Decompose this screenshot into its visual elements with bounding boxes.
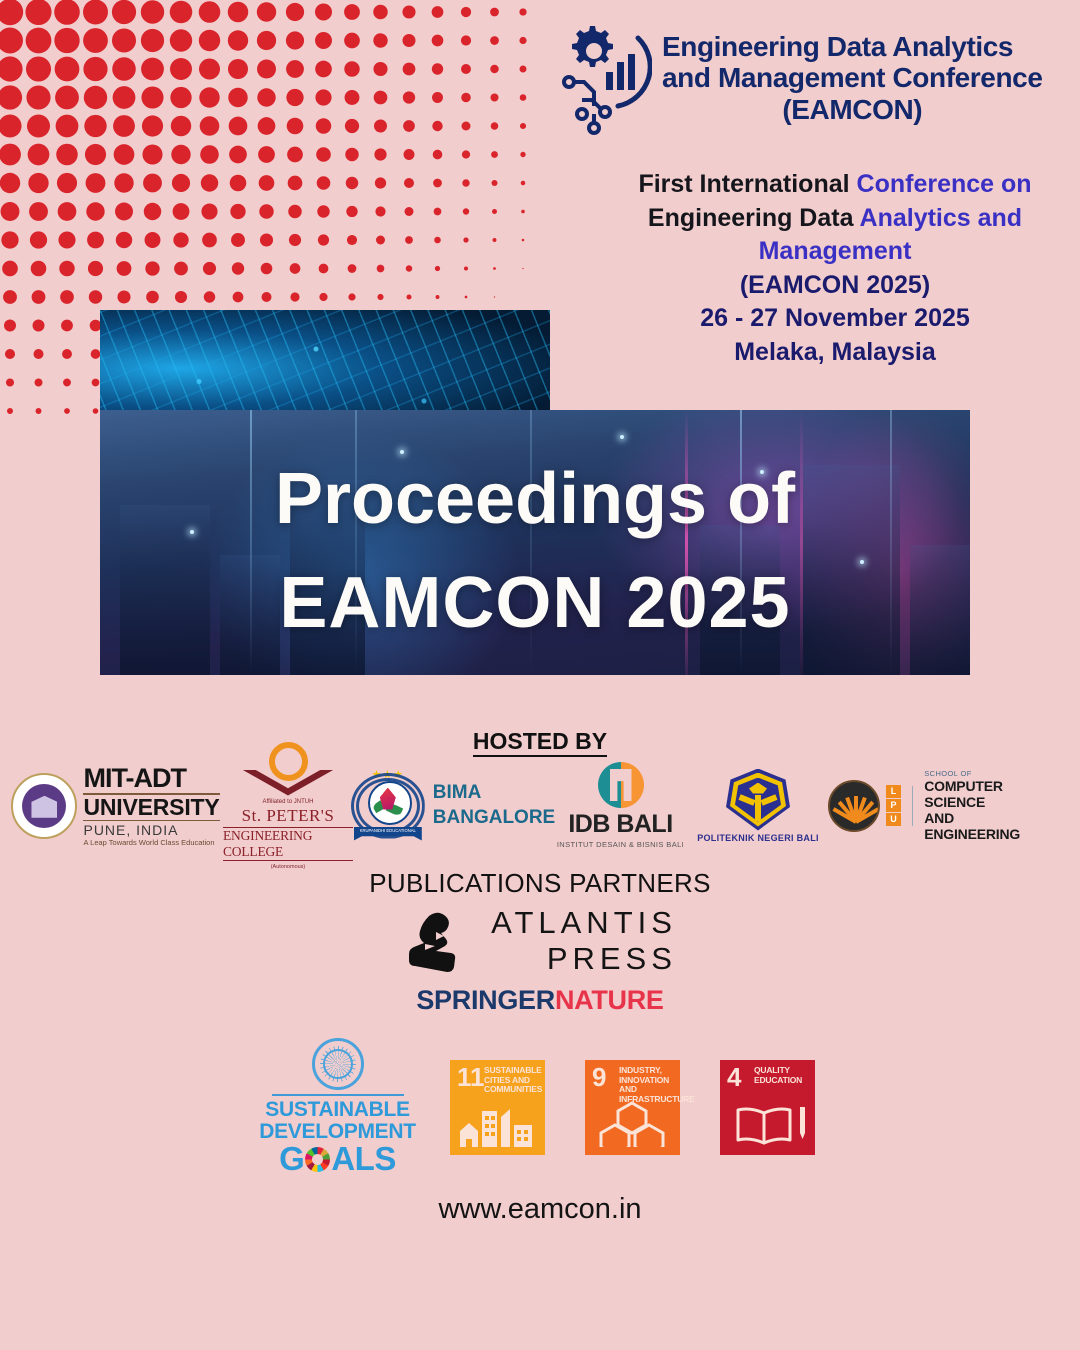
website-url: www.eamcon.in: [0, 1193, 1080, 1226]
idb-word-2: INSTITUT DESAIN & BISNIS BALI: [557, 840, 684, 849]
sdg-4-label: QUALITY EDUCATION: [754, 1066, 810, 1085]
politeknik-shield-icon: [726, 769, 790, 831]
sun-icon: [269, 742, 308, 781]
publisher-logo-springer-nature: SPRINGERNATURE: [0, 985, 1080, 1016]
sdg-color-wheel-icon: [305, 1147, 330, 1172]
stp-word-1: St. PETER'S: [242, 806, 335, 826]
banner-title-line-2: EAMCON 2025: [100, 552, 970, 656]
mit-seal-icon: [11, 773, 77, 839]
mit-word-3: PUNE, INDIA: [83, 823, 219, 837]
conf-line-1: First International Conference on: [600, 168, 1070, 202]
sdg-4-number: 4: [727, 1064, 741, 1090]
banner-title: Proceedings of EAMCON 2025: [100, 448, 970, 655]
sdg-11-label: SUSTAINABLE CITIES AND COMMUNITIES: [484, 1066, 540, 1095]
cubes-icon: [585, 1101, 680, 1147]
sdg-goals-word: G ALS: [279, 1142, 396, 1177]
bima-word-2: BANGALORE: [433, 806, 555, 831]
sdg-9-label: INDUSTRY, INNOVATION AND INFRASTRUCTURE: [619, 1066, 675, 1104]
host-logo-lpu-school-of-computer-science: LPU SCHOOL OF COMPUTER SCIENCE AND ENGIN…: [828, 769, 1043, 842]
stp-word-2: ENGINEERING COLLEGE: [223, 827, 353, 861]
sdg-line-2: DEVELOPMENT: [259, 1121, 416, 1142]
conf-location: Melaka, Malaysia: [600, 336, 1070, 370]
lpu-small: SCHOOL OF: [924, 769, 1043, 778]
un-emblem-icon: [312, 1038, 364, 1090]
springer-word: SPRINGER: [416, 985, 555, 1015]
sdg-logos-row: SUSTAINABLE DEVELOPMENT G ALS 11 SUSTAIN…: [0, 1045, 1080, 1170]
sdg-goal-9-tile: 9 INDUSTRY, INNOVATION AND INFRASTRUCTUR…: [585, 1060, 680, 1155]
mit-tagline: A Leap Towards World Class Education: [83, 839, 219, 847]
politeknik-word-1: POLITEKNIK NEGERI BALI: [697, 833, 819, 843]
conference-logo-text: Engineering Data Analytics and Managemen…: [662, 31, 1043, 126]
logo-line-3: (EAMCON): [662, 94, 1043, 126]
logo-line-2: and Management Conference: [662, 62, 1043, 93]
sdg-11-number: 11: [457, 1064, 485, 1090]
lpu-word-2: AND ENGINEERING: [924, 810, 1043, 842]
lpu-monogram: LPU: [886, 785, 901, 826]
host-logo-bima-bangalore: ★★★ KRUPANIDHI EDUCATIONAL TRUST BIMA BA…: [353, 769, 553, 843]
gear-circuit-barchart-icon: [560, 18, 652, 138]
atlantis-line-1: ATLANTIS: [491, 905, 677, 941]
conf-line-2: Engineering Data Analytics and: [600, 202, 1070, 236]
lpu-badge-icon: [828, 780, 880, 832]
host-logo-idb-bali: IDB BALI INSTITUT DESAIN & BISNIS BALI: [553, 762, 688, 849]
host-logo-mit-adt-university: MIT-ADT UNIVERSITY PUNE, INDIA A Leap To…: [8, 765, 223, 847]
conference-details: First International Conference on Engine…: [600, 168, 1070, 369]
book-pencil-icon: [720, 1101, 815, 1147]
sdg-line-1: SUSTAINABLE: [265, 1099, 409, 1120]
lpu-divider: [912, 786, 913, 826]
host-logos-row: MIT-ADT UNIVERSITY PUNE, INDIA A Leap To…: [0, 758, 1080, 853]
sdg-rule: [272, 1094, 404, 1096]
city-buildings-icon: [450, 1101, 545, 1147]
conf-acronym-year: (EAMCON 2025): [600, 269, 1070, 303]
idb-mark-icon: [598, 762, 644, 808]
host-logo-st-peters-engineering-college: Affiliated to JNTUH St. PETER'S ENGINEER…: [223, 742, 353, 870]
logo-line-1: Engineering Data Analytics: [662, 31, 1013, 62]
sustainable-development-goals-logo: SUSTAINABLE DEVELOPMENT G ALS: [265, 1038, 410, 1176]
bima-word-1: BIMA: [433, 781, 555, 806]
proceedings-banner: Proceedings of EAMCON 2025: [100, 410, 970, 675]
nature-word: NATURE: [555, 985, 664, 1015]
thinker-statue-icon: [403, 910, 477, 972]
banner-title-line-1: Proceedings of: [100, 448, 970, 552]
publisher-logo-atlantis-press: ATLANTIS PRESS: [0, 905, 1080, 976]
publications-partners-label: PUBLICATIONS PARTNERS: [0, 868, 1080, 899]
idb-word-1: IDB BALI: [568, 810, 672, 839]
host-logo-politeknik-negeri-bali: POLITEKNIK NEGERI BALI: [688, 769, 828, 843]
sdg-9-number: 9: [592, 1064, 606, 1090]
atlantis-line-2: PRESS: [491, 941, 677, 977]
bima-crest-icon: ★★★ KRUPANIDHI EDUCATIONAL TRUST: [351, 769, 425, 843]
stp-small-top: Affiliated to JNTUH: [263, 799, 314, 805]
conference-logo-header: Engineering Data Analytics and Managemen…: [560, 8, 1080, 148]
sdg-goal-11-tile: 11 SUSTAINABLE CITIES AND COMMUNITIES: [450, 1060, 545, 1155]
lpu-word-1: COMPUTER SCIENCE: [924, 778, 1043, 810]
conf-line-3: Management: [600, 235, 1070, 269]
hosted-by-label: HOSTED BY: [0, 728, 1080, 755]
sdg-goal-4-tile: 4 QUALITY EDUCATION: [720, 1060, 815, 1155]
mit-word-2: UNIVERSITY: [83, 793, 219, 821]
conf-dates: 26 - 27 November 2025: [600, 302, 1070, 336]
mit-word-1: MIT-ADT: [83, 765, 219, 792]
